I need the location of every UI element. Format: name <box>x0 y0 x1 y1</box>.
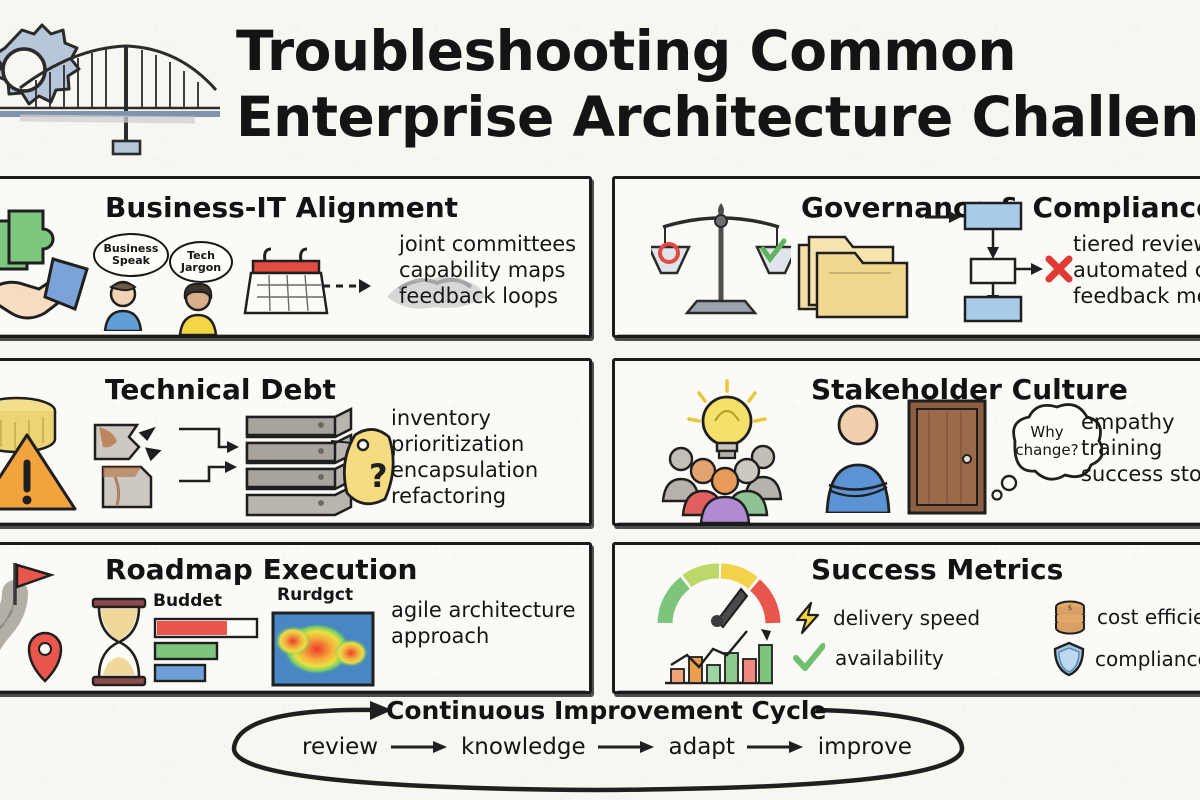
cycle-steps: review knowledge adapt improve <box>302 734 912 760</box>
road-flag-icon <box>0 557 87 691</box>
metric-cost-efficiency: $ cost efficie <box>1053 599 1200 635</box>
panel-business-it-alignment[interactable]: Business-IT Alignment Business Speak Tec… <box>0 176 592 338</box>
metric-label: compliance <box>1095 647 1200 671</box>
metric-label: delivery speed <box>833 606 980 630</box>
handshake-puzzle-icon <box>0 203 105 333</box>
flowchart-icon <box>921 195 1073 327</box>
bubble-label: Business Speak <box>95 243 167 267</box>
panel-success-metrics[interactable]: Success Metrics <box>612 542 1200 694</box>
lightbulb-icon <box>689 381 765 458</box>
budget-chart-label: Buddet <box>153 591 222 611</box>
metric-label: cost efficie <box>1097 605 1200 629</box>
svg-text:?: ? <box>369 457 388 495</box>
bubble-business-speak: Business Speak <box>93 233 169 277</box>
hourglass-icon <box>87 597 151 691</box>
coins-warning-icon <box>0 391 93 519</box>
calendar-icon <box>243 241 333 333</box>
panel-bullets: inventory prioritization encapsulation r… <box>391 405 538 509</box>
bullet-item: feedback loops <box>399 283 576 309</box>
bar-progress-icon <box>153 617 261 687</box>
page-title: Troubleshooting Common Enterprise Archit… <box>236 18 1200 150</box>
panel-title: Technical Debt <box>105 373 336 406</box>
bullet-item: feedback mec <box>1073 283 1200 309</box>
title-line-2: Enterprise Architecture Challenges <box>236 84 1200 150</box>
arrow-icon <box>596 739 658 755</box>
arms-crossed-person-icon <box>819 403 897 517</box>
lightbulb-crowd-icon <box>651 375 801 527</box>
bar-chart-trend-icon <box>665 629 773 683</box>
person-icon <box>175 283 221 339</box>
person-icon <box>101 279 145 335</box>
bullet-item: agile architecture <box>391 597 576 623</box>
bullet-item: capability maps <box>399 257 576 283</box>
shield-icon <box>1053 641 1085 677</box>
panel-title: Business-IT Alignment <box>105 191 458 224</box>
panel-title: Success Metrics <box>811 553 1063 586</box>
dashed-arrow-icon <box>321 275 379 301</box>
metric-compliance: compliance <box>1053 641 1200 677</box>
lightning-bolt-icon <box>793 601 823 635</box>
bullet-item: encapsulation <box>391 457 538 483</box>
metric-delivery-speed: delivery speed <box>793 601 980 635</box>
arrow-icon <box>389 739 451 755</box>
bullet-item: automated ch <box>1073 257 1200 283</box>
panel-bullets: joint committees capability maps feedbac… <box>399 231 576 309</box>
panel-bullets: tiered review automated ch feedback mec <box>1073 231 1200 309</box>
panel-roadmap-execution[interactable]: Roadmap Execution Buddet <box>0 542 592 694</box>
gauge-icon <box>665 571 773 623</box>
svg-text:change?: change? <box>1015 441 1078 459</box>
bullet-item: tiered review <box>1073 231 1200 257</box>
cycle-step: knowledge <box>461 734 586 760</box>
folders-icon <box>795 227 913 327</box>
door-icon <box>903 397 991 519</box>
map-pin-icon <box>29 633 61 681</box>
bubble-label: Tech Jargon <box>171 250 231 274</box>
panel-stakeholder-culture[interactable]: Stakeholder Culture <box>612 358 1200 526</box>
green-check-icon <box>793 643 825 673</box>
bullet-item: success sto <box>1081 461 1200 487</box>
panel-bullets: empathy training success sto <box>1081 409 1200 487</box>
red-x-icon <box>1049 259 1069 279</box>
gauge-chart-icon <box>651 561 787 695</box>
cycle-title: Continuous Improvement Cycle <box>386 696 826 725</box>
cycle-step: adapt <box>669 734 735 760</box>
cycle-step: improve <box>818 734 912 760</box>
bullet-item: refactoring <box>391 483 538 509</box>
bullet-item: empathy <box>1081 409 1200 435</box>
balance-scale-icon <box>651 197 791 331</box>
coins-icon: $ <box>1053 599 1087 635</box>
continuous-improvement-cycle: Continuous Improvement Cycle review know… <box>218 692 978 796</box>
panel-governance-compliance[interactable]: Governance & Compliance <box>612 176 1200 338</box>
cycle-step: review <box>302 734 378 760</box>
metric-label: availability <box>835 646 944 670</box>
title-line-1: Troubleshooting Common <box>236 18 1200 84</box>
header-illustration <box>0 8 220 168</box>
bullet-item: approach <box>391 623 576 649</box>
panel-bullets: agile architecture approach <box>391 597 576 649</box>
bullet-item: inventory <box>391 405 538 431</box>
cracked-brick-icon <box>89 417 179 525</box>
svg-text:Why: Why <box>1030 423 1063 441</box>
bullet-item: prioritization <box>391 431 538 457</box>
bullet-item: training <box>1081 435 1200 461</box>
arrow-icon <box>745 739 807 755</box>
metric-availability: availability <box>793 643 944 673</box>
bubble-tech-jargon: Tech Jargon <box>169 241 233 283</box>
bullet-item: joint committees <box>399 231 576 257</box>
panel-title: Roadmap Execution <box>105 553 417 586</box>
panel-technical-debt[interactable]: Technical Debt <box>0 358 592 526</box>
svg-text:$: $ <box>1068 604 1072 612</box>
gear-icon <box>0 25 79 104</box>
heatmap-chart-label: Rurdgct <box>277 585 353 605</box>
heatmap-icon <box>271 611 375 691</box>
